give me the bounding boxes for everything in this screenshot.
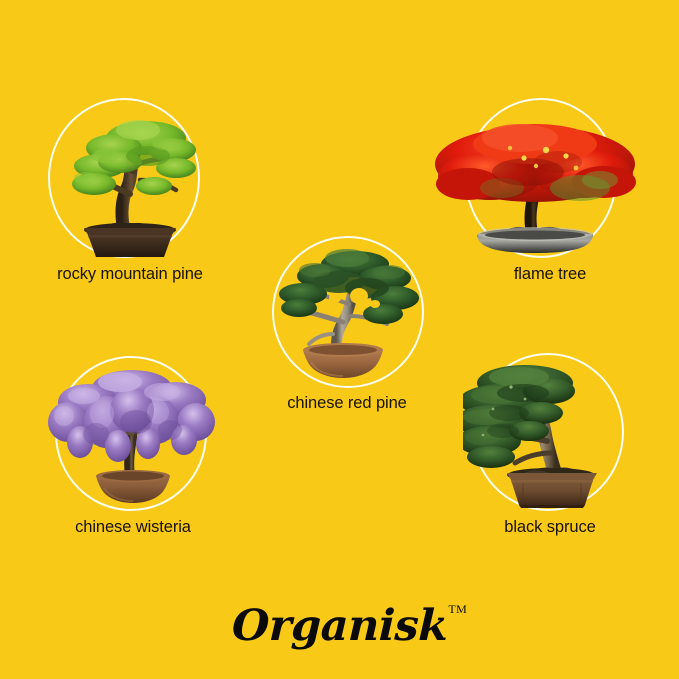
tree-card-rocky-mountain-pine[interactable]: rocky mountain pine (40, 92, 220, 292)
tree-card-chinese-wisteria[interactable]: chinese wisteria (45, 352, 235, 547)
tree-label-black-spruce: black spruce (450, 519, 650, 536)
tree-illustration-black-spruce (463, 357, 628, 512)
trademark-symbol: TM (448, 602, 467, 617)
tree-card-black-spruce[interactable]: black spruce (455, 347, 645, 547)
tree-card-flame-tree[interactable]: flame tree (450, 92, 650, 292)
poster-canvas: rocky mountain pine (0, 0, 679, 679)
tree-illustration-chinese-red-pine (271, 242, 426, 387)
tree-label-flame-tree: flame tree (440, 266, 660, 283)
tree-card-chinese-red-pine[interactable]: chinese red pine (265, 232, 435, 412)
tree-illustration-chinese-wisteria (44, 360, 219, 510)
tree-illustration-rocky-mountain-pine (50, 102, 210, 257)
brand-name: Organisk (231, 604, 448, 649)
tree-label-chinese-red-pine: chinese red pine (247, 395, 447, 412)
brand-logo: Organisk TM (0, 604, 679, 656)
brand-logo-inner: Organisk TM (232, 604, 448, 649)
tree-label-rocky-mountain-pine: rocky mountain pine (20, 266, 240, 283)
tree-label-chinese-wisteria: chinese wisteria (33, 519, 233, 536)
tree-illustration-flame-tree (428, 114, 643, 259)
